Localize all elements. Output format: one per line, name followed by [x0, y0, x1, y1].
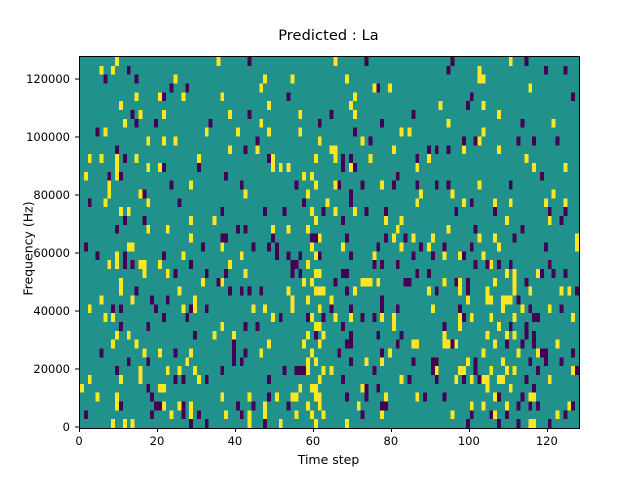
x-tick-mark: [313, 428, 314, 432]
y-tick-label: 120000: [26, 72, 70, 86]
x-tick-mark: [157, 428, 158, 432]
x-axis-label: Time step: [79, 452, 578, 467]
y-tick-mark: [75, 253, 79, 254]
x-tick-mark: [547, 428, 548, 432]
y-tick-label: 80000: [33, 188, 70, 202]
y-tick-mark: [75, 79, 79, 80]
x-tick-label: 60: [306, 434, 321, 448]
heatmap-plot-area: [79, 56, 580, 429]
x-tick-label: 40: [228, 434, 243, 448]
y-tick-label: 0: [63, 420, 70, 434]
y-tick-label: 20000: [33, 362, 70, 376]
y-tick-mark: [75, 369, 79, 370]
y-tick-label: 40000: [33, 304, 70, 318]
page-title: Predicted : La: [79, 28, 578, 44]
x-tick-mark: [235, 428, 236, 432]
x-tick-mark: [469, 428, 470, 432]
y-axis-label: Frequency (Hz): [21, 169, 36, 329]
x-tick-label: 120: [536, 434, 558, 448]
y-tick-mark: [75, 311, 79, 312]
x-tick-mark: [391, 428, 392, 432]
y-tick-label: 100000: [26, 130, 70, 144]
x-tick-label: 80: [384, 434, 399, 448]
y-tick-mark: [75, 137, 79, 138]
y-tick-label: 60000: [33, 246, 70, 260]
x-tick-label: 20: [150, 434, 165, 448]
x-tick-label: 100: [458, 434, 480, 448]
x-tick-mark: [79, 428, 80, 432]
spectrogram-heatmap: [80, 57, 579, 428]
matplotlib-figure: Predicted : La 0200004000060000800001000…: [0, 0, 640, 480]
y-tick-mark: [75, 195, 79, 196]
x-tick-label: 0: [75, 434, 82, 448]
